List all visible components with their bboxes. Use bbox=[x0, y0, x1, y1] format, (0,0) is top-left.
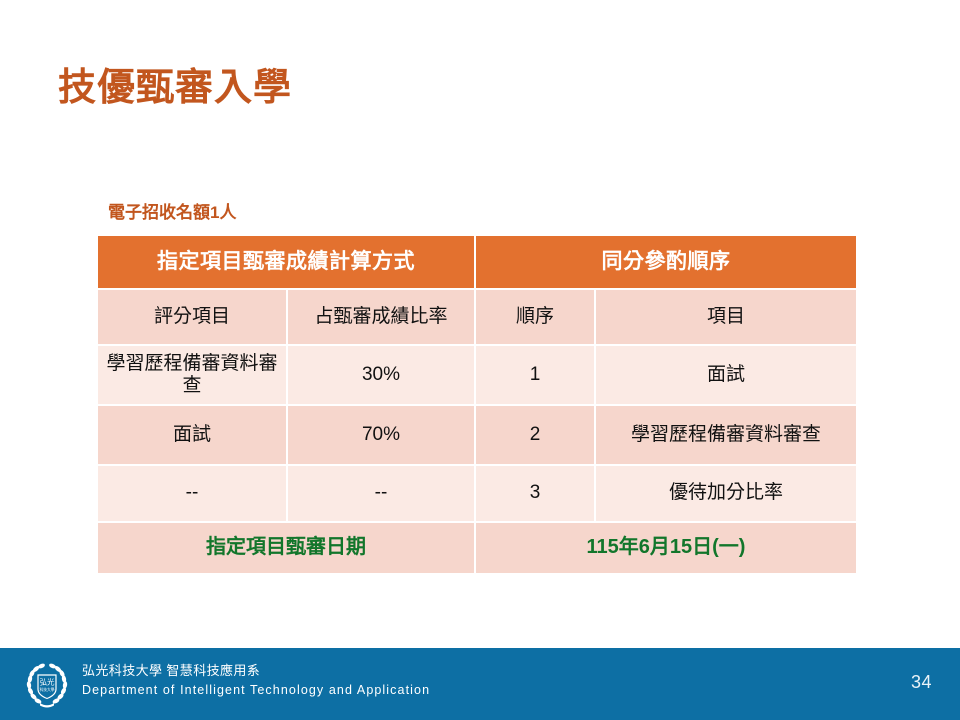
cell-order: 1 bbox=[476, 346, 594, 404]
cell-item: 優待加分比率 bbox=[596, 466, 856, 521]
table-row: 學習歷程備審資料審查 30% 1 面試 bbox=[98, 346, 856, 404]
table-row: 面試 70% 2 學習歷程備審資料審查 bbox=[98, 406, 856, 464]
admission-table-container: 指定項目甄審成績計算方式 同分參酌順序 評分項目 占甄審成績比率 順序 項目 學… bbox=[96, 234, 854, 575]
table-caption: 電子招收名額1人 bbox=[108, 198, 236, 223]
subheader-cell-item: 項目 bbox=[596, 290, 856, 344]
cell-exam-date-label: 指定項目甄審日期 bbox=[98, 523, 474, 573]
cell-item: 學習歷程備審資料審查 bbox=[596, 406, 856, 464]
page-number: 34 bbox=[911, 672, 932, 693]
table-subheader-row: 評分項目 占甄審成績比率 順序 項目 bbox=[98, 290, 856, 344]
cell-item: 面試 bbox=[596, 346, 856, 404]
header-cell-score-calculation: 指定項目甄審成績計算方式 bbox=[98, 236, 474, 288]
cell-score-item: 面試 bbox=[98, 406, 286, 464]
svg-text:弘光: 弘光 bbox=[40, 677, 55, 687]
table-header-row: 指定項目甄審成績計算方式 同分參酌順序 bbox=[98, 236, 856, 288]
university-seal-logo: 弘光 科技大學 bbox=[22, 660, 72, 710]
table-row: -- -- 3 優待加分比率 bbox=[98, 466, 856, 521]
header-cell-tiebreak-order: 同分參酌順序 bbox=[476, 236, 856, 288]
admission-table: 指定項目甄審成績計算方式 同分參酌順序 評分項目 占甄審成績比率 順序 項目 學… bbox=[96, 234, 858, 575]
table-date-row: 指定項目甄審日期 115年6月15日(一) bbox=[98, 523, 856, 573]
cell-order: 3 bbox=[476, 466, 594, 521]
footer-org-name-en: Department of Intelligent Technology and… bbox=[82, 681, 430, 700]
cell-score-ratio: 30% bbox=[288, 346, 474, 404]
cell-score-item: 學習歷程備審資料審查 bbox=[98, 346, 286, 404]
footer-bar: 弘光 科技大學 弘光科技大學 智慧科技應用系 Department of Int… bbox=[0, 648, 960, 720]
footer-org-info: 弘光科技大學 智慧科技應用系 Department of Intelligent… bbox=[82, 662, 430, 700]
subheader-cell-score-ratio: 占甄審成績比率 bbox=[288, 290, 474, 344]
cell-score-ratio: 70% bbox=[288, 406, 474, 464]
page-title: 技優甄審入學 bbox=[58, 66, 292, 112]
cell-score-item: -- bbox=[98, 466, 286, 521]
cell-exam-date-value: 115年6月15日(一) bbox=[476, 523, 856, 573]
cell-order: 2 bbox=[476, 406, 594, 464]
cell-score-ratio: -- bbox=[288, 466, 474, 521]
svg-text:科技大學: 科技大學 bbox=[39, 687, 54, 692]
footer-org-name-zh: 弘光科技大學 智慧科技應用系 bbox=[82, 662, 430, 681]
subheader-cell-score-item: 評分項目 bbox=[98, 290, 286, 344]
subheader-cell-order: 順序 bbox=[476, 290, 594, 344]
